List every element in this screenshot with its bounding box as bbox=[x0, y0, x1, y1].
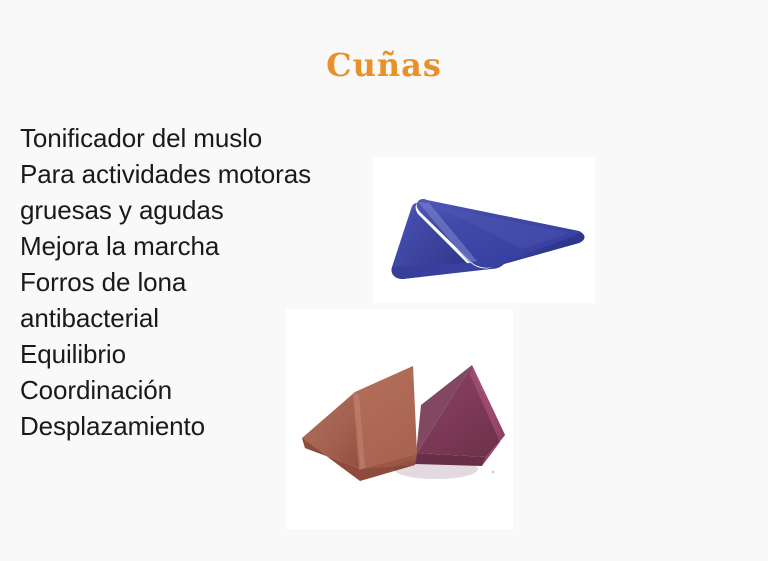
two-wedges-illustration bbox=[286, 309, 513, 529]
blue-wedge-illustration bbox=[373, 157, 595, 303]
body-line: Para actividades motoras bbox=[20, 156, 390, 192]
page-title: Cuñas bbox=[0, 47, 768, 84]
body-line: gruesas y agudas bbox=[20, 192, 390, 228]
two-wedges-photo bbox=[286, 309, 513, 529]
slide-canvas: Cuñas Tonificador del muslo Para activid… bbox=[0, 0, 768, 561]
body-line: Tonificador del muslo bbox=[20, 120, 390, 156]
body-line: Mejora la marcha bbox=[20, 228, 390, 264]
body-line: Forros de lona bbox=[20, 264, 390, 300]
blue-wedge-photo bbox=[373, 157, 595, 303]
